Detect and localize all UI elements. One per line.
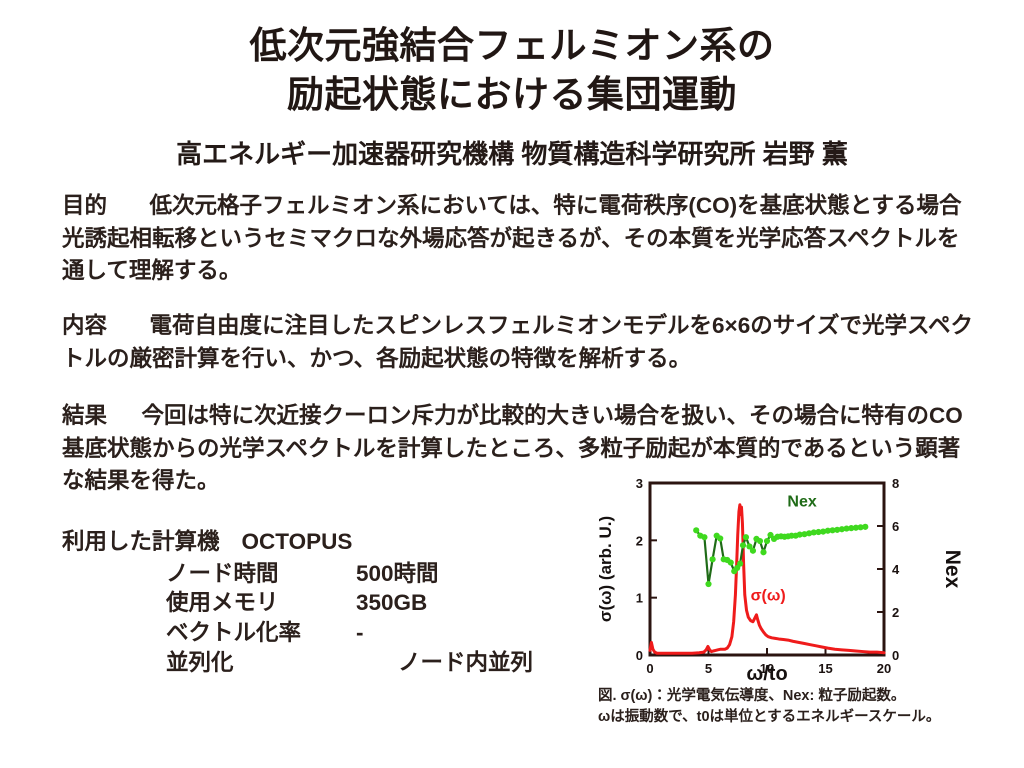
y2-tick-label: 2: [892, 605, 899, 620]
series-marker-nex: [764, 538, 770, 544]
y-tick-label: 3: [636, 476, 643, 491]
series-marker-nex: [740, 542, 746, 548]
machine-header-row: 利用した計算機 OCTOPUS: [62, 527, 638, 557]
resource-label: 並列化: [166, 648, 356, 678]
machine-name: OCTOPUS: [242, 527, 353, 557]
series-marker-nex: [709, 556, 715, 562]
resource-value: 350GB: [356, 588, 596, 618]
x-tick-label: 5: [705, 661, 712, 676]
section-purpose-body: 低次元格子フェルミオン系においては、特に電荷秩序(CO)を基底状態とする場合光誘…: [62, 193, 961, 283]
section-result-heading: 結果: [62, 403, 107, 428]
series-marker-nex: [717, 535, 723, 541]
caption-line-1: 図. σ(ω)：光学電気伝導度、Nex: 粒子励起数。: [598, 686, 1022, 707]
series-marker-nex: [760, 549, 766, 555]
caption-line-2: ωは振動数で、t0は単位とするエネルギースケール。: [598, 707, 1022, 728]
y-axis-left-title: σ(ω) (arb. U.): [596, 516, 615, 622]
y2-tick-label: 8: [892, 476, 899, 491]
resource-row: ノード時間 500時間: [166, 559, 638, 589]
slide-canvas: 低次元強結合フェルミオン系の 励起状態における集団運動 高エネルギー加速器研究機…: [0, 0, 1024, 768]
series-marker-nex: [757, 538, 763, 544]
title-line-2: 励起状態における集団運動: [0, 71, 1024, 120]
series-marker-nex: [705, 581, 711, 587]
section-content-body: 電荷自由度に注目したスピンレスフェルミオンモデルを6×6のサイズで光学スペクトル…: [62, 313, 973, 371]
title-line-1: 低次元強結合フェルミオン系の: [0, 22, 1024, 71]
x-tick-label: 15: [818, 661, 832, 676]
resource-label: ベクトル化率: [166, 618, 356, 648]
sigma-nex-plot: 0123 02468 05101520 Nexσ(ω) σ(ω) (arb. U…: [594, 472, 1018, 684]
y-tick-label: 2: [636, 533, 643, 548]
resource-row: 並列化 ノード内並列: [166, 648, 638, 678]
series-marker-nex: [693, 527, 699, 533]
resource-value: 500時間: [356, 559, 596, 589]
machine-info-block: 利用した計算機 OCTOPUS ノード時間 500時間 使用メモリ 350GB …: [62, 527, 638, 677]
section-content-heading: 内容: [62, 313, 107, 338]
resource-row: ベクトル化率 -: [166, 618, 638, 648]
resource-label: ノード時間: [166, 559, 356, 589]
resource-row: 使用メモリ 350GB: [166, 588, 638, 618]
affiliation-line: 高エネルギー加速器研究機構 物質構造科学研究所 岩野 薫: [0, 134, 1024, 171]
series-marker-nex: [862, 524, 868, 530]
y-axis-right-title: Nex: [941, 550, 964, 589]
series-marker-nex: [743, 534, 749, 540]
resource-label: 使用メモリ: [166, 588, 356, 618]
series-marker-nex: [701, 534, 707, 540]
series-label-sigma: σ(ω): [751, 588, 786, 605]
x-axis-title: ω/to: [746, 663, 787, 684]
y-tick-label: 0: [636, 648, 643, 663]
series-label-nex: Nex: [787, 494, 816, 511]
section-purpose-heading: 目的: [62, 193, 107, 218]
series-marker-nex: [737, 561, 743, 567]
resource-value: -: [356, 618, 596, 648]
x-tick-label: 0: [646, 661, 653, 676]
series-marker-nex: [750, 548, 756, 554]
section-purpose: 目的 低次元格子フェルミオン系においては、特に電荷秩序(CO)を基底状態とする場…: [62, 190, 974, 288]
y2-tick-label: 6: [892, 519, 899, 534]
y-tick-label: 1: [636, 591, 643, 606]
series-marker-nex: [728, 559, 734, 565]
y2-tick-label: 0: [892, 648, 899, 663]
plot-frame: [650, 483, 884, 655]
figure-container: 0123 02468 05101520 Nexσ(ω) σ(ω) (arb. U…: [594, 472, 1018, 764]
x-tick-label: 20: [877, 661, 891, 676]
y2-tick-label: 4: [892, 562, 900, 577]
figure-caption: 図. σ(ω)：光学電気伝導度、Nex: 粒子励起数。 ωは振動数で、t0は単位…: [598, 686, 1022, 728]
machine-label: 利用した計算機: [62, 527, 220, 557]
page-title: 低次元強結合フェルミオン系の 励起状態における集団運動: [0, 22, 1024, 120]
section-content: 内容 電荷自由度に注目したスピンレスフェルミオンモデルを6×6のサイズで光学スペ…: [62, 310, 974, 375]
